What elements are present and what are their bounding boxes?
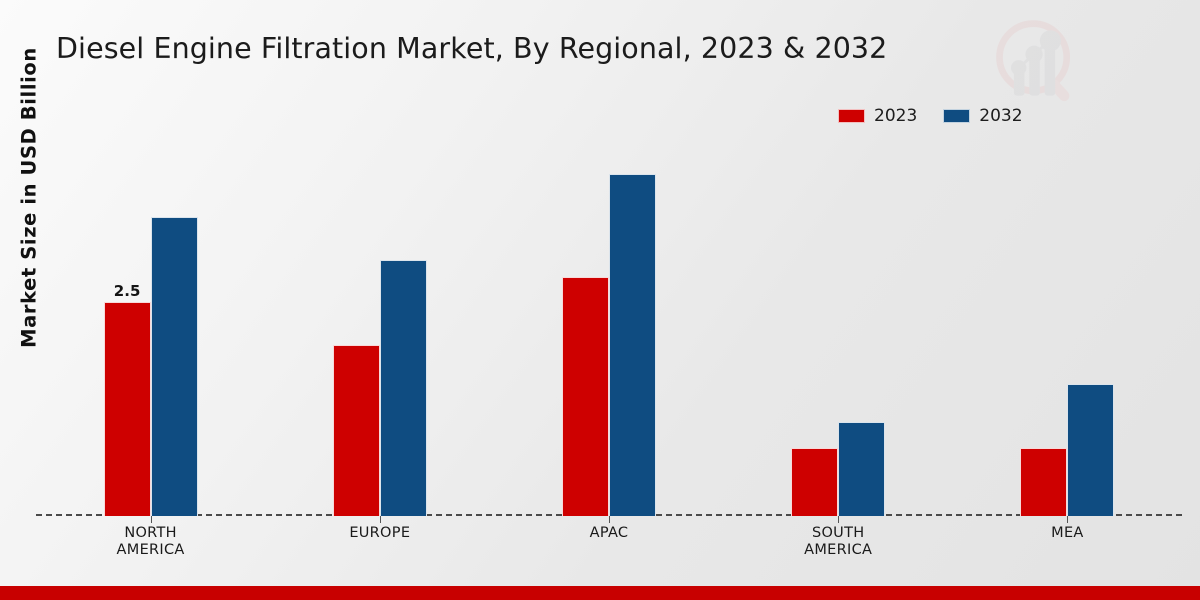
legend-label-2023: 2023: [874, 106, 917, 126]
legend-label-2032: 2032: [979, 106, 1022, 126]
bar-value-label: 2.5: [114, 282, 141, 300]
bar-2032[interactable]: [1067, 384, 1114, 516]
chart-legend: 2023 2032: [838, 106, 1023, 126]
legend-item-2032[interactable]: 2032: [943, 106, 1022, 126]
x-axis-tick: [380, 516, 381, 523]
plot-area: 2.5NORTH AMERICAEUROPEAPACSOUTH AMERICAM…: [36, 140, 1182, 516]
x-axis-category-label: SOUTH AMERICA: [804, 525, 872, 559]
legend-item-2023[interactable]: 2023: [838, 106, 917, 126]
chart-canvas: Diesel Engine Filtration Market, By Regi…: [0, 0, 1200, 600]
bar-group: SOUTH AMERICA: [724, 140, 953, 516]
bar-2023[interactable]: [562, 277, 609, 516]
bar-2032[interactable]: [609, 174, 656, 516]
x-axis-category-label: APAC: [590, 525, 629, 542]
x-axis-category-label: EUROPE: [349, 525, 410, 542]
bar-2032[interactable]: [151, 217, 198, 516]
x-axis-category-label: MEA: [1051, 525, 1084, 542]
bar-2023[interactable]: [1020, 448, 1067, 516]
bar-group: 2.5NORTH AMERICA: [36, 140, 265, 516]
bar-pair: [1020, 140, 1114, 516]
x-axis-tick: [1067, 516, 1068, 523]
bar-2032[interactable]: [838, 422, 885, 516]
legend-swatch-icon-2032: [943, 109, 970, 123]
bar-pair: [562, 140, 656, 516]
bar-group: MEA: [953, 140, 1182, 516]
bar-group: APAC: [494, 140, 723, 516]
footer-accent-bar: [0, 586, 1200, 600]
bar-pair: 2.5: [104, 140, 198, 516]
bar-2023[interactable]: 2.5: [104, 302, 151, 516]
bar-groups: 2.5NORTH AMERICAEUROPEAPACSOUTH AMERICAM…: [36, 140, 1182, 516]
bar-2032[interactable]: [380, 260, 427, 516]
x-axis-category-label: NORTH AMERICA: [117, 525, 185, 559]
bar-2023[interactable]: [333, 345, 380, 516]
bar-group: EUROPE: [265, 140, 494, 516]
bar-pair: [791, 140, 885, 516]
x-axis-tick: [609, 516, 610, 523]
bar-pair: [333, 140, 427, 516]
bar-2023[interactable]: [791, 448, 838, 516]
legend-swatch-icon-2023: [838, 109, 865, 123]
x-axis-tick: [838, 516, 839, 523]
x-axis-tick: [151, 516, 152, 523]
watermark-logo: [988, 14, 1084, 110]
chart-title: Diesel Engine Filtration Market, By Regi…: [56, 32, 887, 65]
